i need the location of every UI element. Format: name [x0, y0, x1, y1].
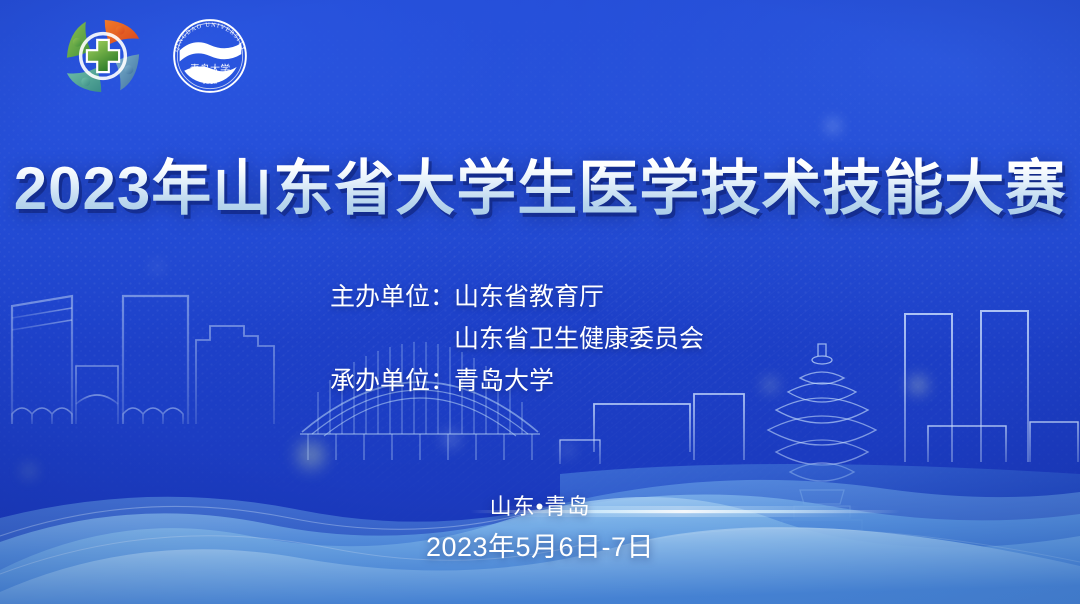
- qingdao-university-emblem-icon: QINGDAO UNIVERSITY 青岛大学 1909: [164, 10, 256, 102]
- event-location: 山东•青岛: [0, 489, 1080, 521]
- event-date: 2023年5月6日-7日: [0, 525, 1080, 564]
- organiser-value: 山东省教育厅: [454, 276, 604, 318]
- medical-skills-emblem-icon: [60, 13, 146, 99]
- organiser-row: 山东省卫生健康委员会: [0, 318, 1080, 360]
- bokeh-orb: [825, 118, 841, 134]
- emblem-founded-year: 1909: [202, 79, 218, 86]
- bokeh-orb: [20, 462, 38, 480]
- bokeh-orb: [150, 260, 164, 274]
- bokeh-orb: [560, 442, 576, 458]
- page-title: 2023年山东省大学生医学技术技能大赛: [0, 140, 1080, 227]
- organiser-label: 承办单位：: [330, 360, 454, 402]
- organisers-block: 主办单位： 山东省教育厅 山东省卫生健康委员会 承办单位： 青岛大学: [0, 276, 1080, 402]
- organiser-row: 主办单位： 山东省教育厅: [0, 276, 1080, 318]
- organiser-label: [330, 318, 454, 360]
- logo-group: QINGDAO UNIVERSITY 青岛大学 1909: [60, 10, 256, 102]
- emblem-chinese-name: 青岛大学: [190, 63, 230, 76]
- event-poster: QINGDAO UNIVERSITY 青岛大学 1909 2023年山东省大学生…: [0, 0, 1080, 604]
- bokeh-orb: [440, 428, 462, 450]
- organiser-value: 青岛大学: [454, 360, 554, 402]
- organiser-row: 承办单位： 青岛大学: [0, 360, 1080, 402]
- organiser-label: 主办单位：: [330, 276, 454, 318]
- organiser-value: 山东省卫生健康委员会: [454, 318, 704, 360]
- bokeh-orb: [290, 434, 332, 476]
